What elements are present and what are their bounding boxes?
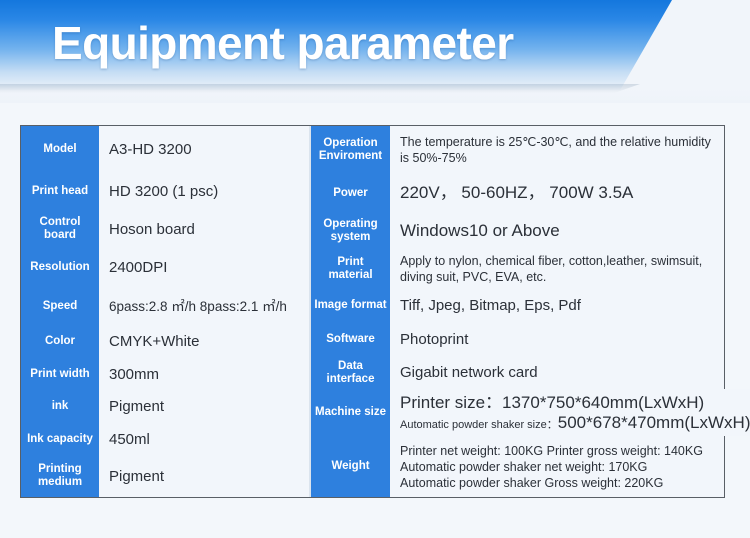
table-row: Ink capacity 450ml bbox=[21, 423, 309, 455]
machine-size-printer-line: Printer size：1370*750*640mm(LxWxH) bbox=[400, 391, 750, 414]
table-row: Weight Printer net weight: 100KG Printer… bbox=[311, 436, 724, 497]
spec-label-speed: Speed bbox=[21, 287, 99, 325]
page-title: Equipment parameter bbox=[52, 14, 514, 72]
spec-label-print-width: Print width bbox=[21, 358, 99, 390]
spec-value-model: A3-HD 3200 bbox=[99, 126, 309, 172]
table-row: Operating system Windows10 or Above bbox=[311, 211, 724, 250]
spec-value-image-format: Tiff, Jpeg, Bitmap, Eps, Pdf bbox=[390, 288, 724, 323]
spec-value-text: Pigment bbox=[109, 397, 305, 416]
spec-label-print-material: Print material bbox=[311, 250, 390, 289]
spec-label-model: Model bbox=[21, 126, 99, 172]
spec-value-text: The temperature is 25℃-30℃, and the rela… bbox=[400, 134, 720, 166]
table-row: Data interface Gigabit network card bbox=[311, 356, 724, 389]
spec-label-power: Power bbox=[311, 175, 390, 212]
spec-value-text: Apply to nylon, chemical fiber, cotton,l… bbox=[400, 253, 720, 285]
table-row: Software Photoprint bbox=[311, 323, 724, 356]
spec-label-image-format: Image format bbox=[311, 288, 390, 323]
spec-label-weight: Weight bbox=[311, 436, 390, 497]
weight-line-printer: Printer net weight: 100KG Printer gross … bbox=[400, 443, 720, 459]
spec-value-operating-system: Windows10 or Above bbox=[390, 211, 724, 250]
table-row: Control board Hoson board bbox=[21, 210, 309, 248]
spec-value-text: 300mm bbox=[109, 365, 305, 384]
weight-line-shaker-gross: Automatic powder shaker Gross weight: 22… bbox=[400, 475, 720, 491]
spec-value-text: HD 3200 (1 psc) bbox=[109, 182, 305, 201]
table-row: Printing medium Pigment bbox=[21, 455, 309, 497]
table-row: Image format Tiff, Jpeg, Bitmap, Eps, Pd… bbox=[311, 288, 724, 323]
spec-value-operation-enviroment: The temperature is 25℃-30℃, and the rela… bbox=[390, 126, 724, 175]
table-row: Resolution 2400DPI bbox=[21, 248, 309, 287]
spec-value-text: Gigabit network card bbox=[400, 363, 720, 382]
machine-size-shaker-prefix: Automatic powder shaker size： bbox=[400, 419, 558, 431]
spec-value-print-width: 300mm bbox=[99, 358, 309, 390]
spec-value-ink-capacity: 450ml bbox=[99, 423, 309, 455]
weight-line-shaker-net: Automatic powder shaker net weight: 170K… bbox=[400, 459, 720, 475]
spec-label-color: Color bbox=[21, 325, 99, 357]
spec-value-text: A3-HD 3200 bbox=[109, 140, 305, 159]
header-banner-shadow bbox=[0, 84, 640, 93]
spec-label-ink: ink bbox=[21, 390, 99, 422]
spec-label-operation-enviroment: Operation Enviroment bbox=[311, 126, 390, 175]
spec-value-text: Hoson board bbox=[109, 220, 305, 239]
spec-value-text: 220V， 50-60HZ， 700W 3.5A bbox=[400, 182, 720, 204]
spec-table-left-column: Model A3-HD 3200 Print head HD 3200 (1 p… bbox=[21, 126, 310, 497]
spec-value-color: CMYK+White bbox=[99, 325, 309, 357]
spec-value-text: 6pass:2.8 ㎡/h 8pass:2.1 ㎡/h bbox=[109, 298, 305, 316]
spec-value-text: 2400DPI bbox=[109, 258, 305, 277]
spec-value-print-head: HD 3200 (1 psc) bbox=[99, 172, 309, 210]
spec-value-resolution: 2400DPI bbox=[99, 248, 309, 287]
spec-value-text: Tiff, Jpeg, Bitmap, Eps, Pdf bbox=[400, 296, 720, 315]
spec-label-control-board: Control board bbox=[21, 210, 99, 248]
spec-value-print-material: Apply to nylon, chemical fiber, cotton,l… bbox=[390, 250, 724, 289]
spec-value-data-interface: Gigabit network card bbox=[390, 356, 724, 389]
spec-value-machine-size: Printer size：1370*750*640mm(LxWxH) Autom… bbox=[390, 389, 750, 436]
spec-value-printing-medium: Pigment bbox=[99, 455, 309, 497]
machine-size-shaker-line: Automatic powder shaker size：500*678*470… bbox=[400, 414, 750, 434]
spec-value-text: Photoprint bbox=[400, 330, 720, 349]
table-row: Speed 6pass:2.8 ㎡/h 8pass:2.1 ㎡/h bbox=[21, 287, 309, 325]
spec-label-data-interface: Data interface bbox=[311, 356, 390, 389]
spec-value-text: Pigment bbox=[109, 467, 305, 486]
spec-value-control-board: Hoson board bbox=[99, 210, 309, 248]
spec-label-print-head: Print head bbox=[21, 172, 99, 210]
spec-label-software: Software bbox=[311, 323, 390, 356]
spec-label-resolution: Resolution bbox=[21, 248, 99, 287]
spec-label-ink-capacity: Ink capacity bbox=[21, 423, 99, 455]
machine-size-shaker-value: 500*678*470mm(LxWxH) bbox=[558, 413, 750, 432]
spec-value-power: 220V， 50-60HZ， 700W 3.5A bbox=[390, 175, 724, 212]
spec-label-printing-medium: Printing medium bbox=[21, 455, 99, 497]
table-row: Print width 300mm bbox=[21, 358, 309, 390]
table-row: Operation Enviroment The temperature is … bbox=[311, 126, 724, 175]
spec-value-ink: Pigment bbox=[99, 390, 309, 422]
header-banner-area: Equipment parameter bbox=[0, 0, 750, 103]
specification-table: Model A3-HD 3200 Print head HD 3200 (1 p… bbox=[20, 125, 725, 498]
table-row: ink Pigment bbox=[21, 390, 309, 422]
spec-value-weight: Printer net weight: 100KG Printer gross … bbox=[390, 436, 724, 497]
table-row: Color CMYK+White bbox=[21, 325, 309, 357]
table-row: Model A3-HD 3200 bbox=[21, 126, 309, 172]
spec-label-operating-system: Operating system bbox=[311, 211, 390, 250]
table-row: Machine size Printer size：1370*750*640mm… bbox=[311, 389, 724, 436]
table-row: Print head HD 3200 (1 psc) bbox=[21, 172, 309, 210]
spec-value-speed: 6pass:2.8 ㎡/h 8pass:2.1 ㎡/h bbox=[99, 287, 309, 325]
spec-value-text: CMYK+White bbox=[109, 332, 305, 351]
table-row: Print material Apply to nylon, chemical … bbox=[311, 250, 724, 289]
table-row: Power 220V， 50-60HZ， 700W 3.5A bbox=[311, 175, 724, 212]
equipment-parameter-page: Equipment parameter Model A3-HD 3200 Pri… bbox=[0, 0, 750, 538]
spec-table-right-column: Operation Enviroment The temperature is … bbox=[310, 126, 724, 497]
spec-label-machine-size: Machine size bbox=[311, 389, 390, 436]
spec-value-software: Photoprint bbox=[390, 323, 724, 356]
spec-value-text: Windows10 or Above bbox=[400, 220, 720, 242]
spec-value-text: 450ml bbox=[109, 430, 305, 449]
